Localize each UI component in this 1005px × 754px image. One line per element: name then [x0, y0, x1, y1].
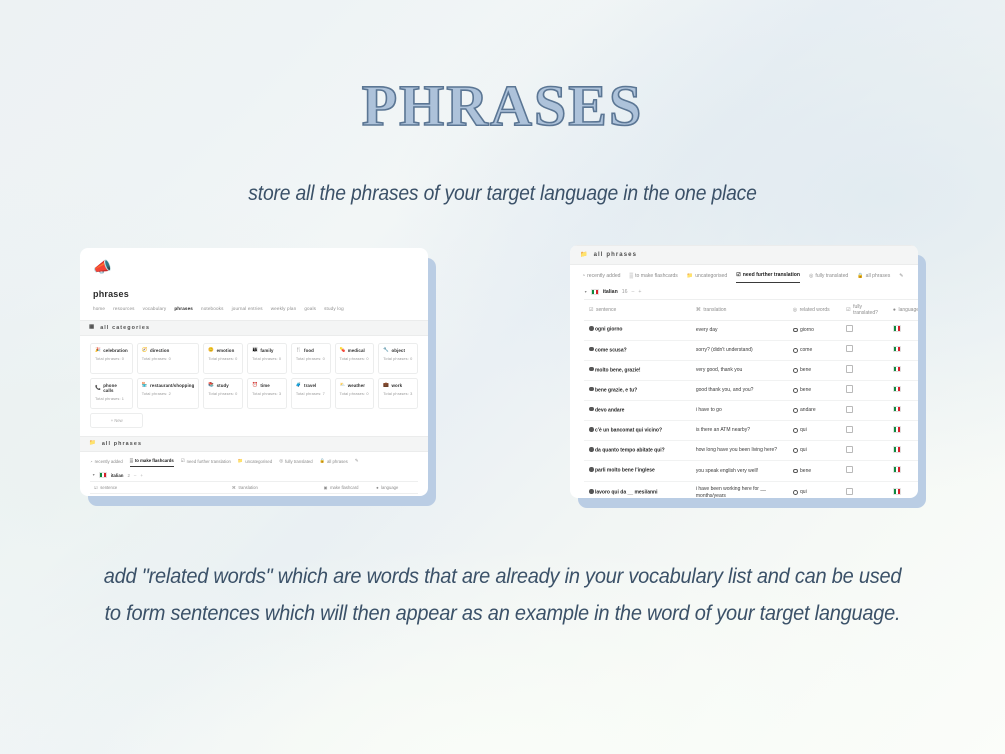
category-emoji-icon: 🍴 — [296, 348, 302, 353]
column-label: make flashcard — [330, 485, 358, 490]
cell-language: italian — [372, 494, 418, 497]
italy-flag-icon — [591, 289, 598, 295]
page-dot-icon — [589, 467, 594, 472]
sentence-text: da quanto tempo abitate qui? — [595, 448, 665, 454]
cell-fully-translated[interactable] — [841, 340, 888, 360]
cell-sentence: lavoro qui da __ mesi/anni — [584, 481, 691, 498]
nav-item-journal-entries[interactable]: journal entries — [232, 306, 263, 311]
cell-translation: every day — [228, 494, 320, 497]
category-count: Total phrases: 0 — [95, 356, 128, 361]
tab-label: all phrases — [327, 459, 348, 464]
checkbox[interactable] — [846, 345, 853, 352]
table-row[interactable]: molto bene, grazie!very good, thank youb… — [584, 360, 918, 380]
table-row[interactable]: come scusa?sorry? (didn't understand)com… — [584, 340, 918, 360]
tab-to-make-flashcards[interactable]: ▒to make flashcards — [630, 273, 678, 283]
nav-item-weekly-plan[interactable]: weekly plan — [271, 306, 297, 311]
nav-item-phrases[interactable]: phrases — [174, 306, 193, 311]
sentence-text: come scusa? — [595, 347, 627, 353]
bottom-caption: add "related words" which are words that… — [91, 558, 914, 632]
left-screenshot-card: 📣 phrases homeresourcesvocabularyphrases… — [80, 248, 428, 496]
category-name: restaurant/shopping — [150, 383, 194, 388]
page-dot-icon — [589, 427, 594, 432]
tab-label: recently added — [95, 459, 123, 464]
related-word-icon — [793, 469, 798, 474]
group-header-right[interactable]: ▼ italian 16 – + — [570, 283, 918, 299]
tab-label: fully translated — [285, 459, 313, 464]
caption-line-1: add "related words" which are words that… — [91, 558, 914, 595]
cell-sentence: come scusa? — [584, 340, 691, 360]
left-card-header: 📣 phrases homeresourcesvocabularyphrases… — [80, 248, 428, 311]
related-word-icon — [793, 408, 798, 413]
page-dot-icon — [589, 407, 594, 412]
category-name: food — [304, 348, 314, 353]
category-emoji-icon: 📚 — [208, 383, 214, 388]
chevron-down-icon: ▼ — [92, 473, 95, 477]
italy-flag-icon — [893, 325, 901, 332]
nav-item-home[interactable]: home — [93, 306, 105, 311]
category-emoji-icon: 📞 — [95, 386, 101, 391]
tab-all-phrases[interactable]: 🔒all phrases — [857, 273, 890, 283]
checkbox[interactable] — [846, 385, 853, 392]
folder-icon: 📁 — [580, 252, 589, 258]
group-count: 16 — [622, 289, 628, 295]
grid-icon: ▦ — [89, 325, 95, 330]
related-word-icon — [793, 490, 798, 495]
checkbox[interactable] — [846, 426, 853, 433]
category-card[interactable]: 🔧objectTotal phrases: 0 — [378, 343, 418, 374]
cell-sentence: parli molto bene l'inglese — [584, 461, 691, 481]
new-category-label: New — [114, 418, 122, 423]
tab-label: all phrases — [866, 273, 891, 279]
sentence-text: ogni giorno — [595, 327, 623, 333]
cell-sentence: ogni giorno — [584, 320, 691, 340]
tab-label: uncategorised — [245, 459, 272, 464]
sentence-text: c'è un bancomat qui vicino? — [595, 428, 662, 434]
category-emoji-icon: ⏰ — [252, 383, 258, 388]
category-card[interactable]: 🎉celebrationTotal phrases: 0 — [90, 343, 133, 374]
checkbox[interactable] — [846, 406, 853, 413]
target-icon: ◎ — [279, 458, 283, 464]
cell-fully-translated[interactable] — [841, 401, 888, 421]
related-text: andare — [800, 407, 816, 414]
cell-translation: sorry? (didn't understand) — [691, 340, 788, 360]
page-dot-icon — [589, 367, 594, 372]
italy-flag-icon — [893, 446, 901, 453]
cell-translation: how long have you been living here? — [691, 441, 788, 461]
folder-icon: 📁 — [687, 273, 693, 279]
cell-translation: i have been working here for __ months/y… — [691, 481, 788, 498]
tab-fully-translated[interactable]: ◎fully translated — [809, 273, 848, 283]
phrases-table-left: ☑sentence⌘translation▣make flashcard●lan… — [90, 481, 418, 496]
clock-icon: ◔ — [90, 459, 93, 464]
folder-icon: 📁 — [238, 458, 243, 464]
tab-edit[interactable]: ✎ — [899, 273, 905, 283]
italy-flag-icon — [99, 472, 106, 478]
related-text: bene — [800, 387, 811, 394]
related-text: come — [800, 347, 812, 354]
related-text: qui — [800, 447, 807, 454]
column-icon: ☑ — [94, 485, 98, 490]
italy-flag-icon — [893, 426, 901, 433]
category-emoji-icon: 👪 — [252, 348, 258, 353]
page-dot-icon — [589, 489, 594, 494]
cell-related-words[interactable]: come — [788, 340, 841, 360]
column-label: sentence — [596, 307, 616, 313]
table-row[interactable]: ogni giornoevery daygiorno — [584, 320, 918, 340]
category-card[interactable]: 🏪restaurant/shoppingTotal phrases: 2 — [137, 378, 200, 409]
category-card[interactable]: 🧭directionTotal phrases: 0 — [137, 343, 200, 374]
table-row[interactable]: lavoro qui da __ mesi/annii have been wo… — [584, 481, 918, 498]
category-name: medical — [348, 348, 365, 353]
cell-sentence: da quanto tempo abitate qui? — [584, 441, 691, 461]
tab-fully-translated[interactable]: ◎fully translated — [279, 458, 312, 467]
category-count: Total phrases: 3 — [252, 391, 282, 396]
lock-icon: 🔒 — [857, 273, 863, 279]
category-name: object — [392, 348, 406, 353]
nav-item-resources[interactable]: resources — [113, 306, 135, 311]
column-icon: ● — [893, 307, 896, 313]
column-icon: ☑ — [589, 307, 593, 313]
new-category-button[interactable]: + New — [90, 413, 143, 428]
italy-flag-icon — [893, 386, 901, 393]
sentence-text: bene grazie, e tu? — [595, 387, 637, 393]
category-card[interactable]: 💼workTotal phrases: 3 — [378, 378, 418, 409]
page-subtitle: store all the phrases of your target lan… — [40, 182, 965, 206]
nav-item-notebooks[interactable]: notebooks — [201, 306, 224, 311]
sentence-text: lavoro qui da __ mesi/anni — [595, 490, 658, 496]
tab-uncategorised[interactable]: 📁uncategorised — [687, 273, 727, 283]
checkbox[interactable] — [846, 488, 853, 495]
cell-translation: is there an ATM nearby? — [691, 421, 788, 441]
section-bar-all-phrases: 📁 all phrases — [570, 245, 918, 265]
column-header-language[interactable]: ●language — [888, 299, 918, 320]
page-dot-icon — [589, 326, 594, 331]
related-text: bene — [800, 468, 811, 475]
table-header-row: ☑sentence⌘translation▣make flashcard●lan… — [90, 482, 418, 494]
tab-label: need further translation — [743, 272, 800, 278]
section-title-all-phrases: all phrases — [594, 252, 637, 258]
column-label: sentence — [100, 485, 117, 490]
cell-related-words[interactable]: andare — [788, 401, 841, 421]
cell-language — [888, 441, 918, 461]
table-body: ogni giornoevery dayitalian i prezzi son… — [90, 494, 418, 497]
column-header-language[interactable]: ●language — [372, 482, 418, 494]
cell-related-words[interactable]: qui — [788, 481, 841, 498]
cards-icon: ▒ — [130, 458, 133, 463]
workspace-title: phrases — [93, 289, 415, 299]
column-label: language — [898, 307, 918, 313]
lock-icon: 🔒 — [320, 458, 325, 464]
category-count: Total phrases: 1 — [95, 396, 128, 401]
column-label: language — [381, 485, 398, 490]
column-label: translation — [238, 485, 257, 490]
category-count: Total phrases: 0 — [208, 391, 238, 396]
cell-language — [888, 421, 918, 441]
sentence-text: molto bene, grazie! — [595, 367, 641, 373]
cell-sentence: ogni giorno — [90, 494, 228, 497]
column-header-fully-translated-[interactable]: ☑fully translated? — [841, 299, 888, 320]
group-count: 2 — [127, 473, 129, 478]
checkbox[interactable] — [846, 365, 853, 372]
category-card[interactable]: 🍴foodTotal phrases: 0 — [291, 343, 331, 374]
section-title-phrases: all phrases — [102, 441, 142, 447]
tab-recently-added[interactable]: ◔recently added — [90, 459, 123, 467]
category-card[interactable]: 🧳travelTotal phrases: 7 — [291, 378, 331, 409]
column-header-sentence[interactable]: ☑sentence — [584, 299, 691, 320]
nav-item-study-log[interactable]: study log — [324, 306, 344, 311]
cell-sentence: devo andare — [584, 401, 691, 421]
cell-fully-translated[interactable] — [841, 380, 888, 400]
category-count: Total phrases: 0 — [142, 356, 195, 361]
tab-all-phrases[interactable]: 🔒all phrases — [320, 458, 348, 467]
related-word-icon — [793, 348, 798, 353]
categories-area: 🎉celebrationTotal phrases: 0🧭directionTo… — [80, 336, 428, 436]
cell-translation: very good, thank you — [691, 360, 788, 380]
column-label: fully translated? — [853, 304, 883, 316]
view-tabs-right: ◔recently added▒to make flashcards📁uncat… — [570, 265, 918, 283]
cell-translation: good thank you, and you? — [691, 380, 788, 400]
category-name: weather — [348, 383, 365, 388]
sentence-text: parli molto bene l'inglese — [595, 468, 655, 474]
page-dot-icon — [589, 387, 594, 392]
tab-label: to make flashcards — [135, 458, 174, 463]
right-card-body: 📁 all phrases ◔recently added▒to make fl… — [570, 245, 918, 498]
sentence-text: devo andare — [595, 407, 624, 413]
megaphone-icon: 📣 — [93, 260, 415, 275]
nav-item-vocabulary[interactable]: vocabulary — [143, 306, 167, 311]
cell-related-words[interactable]: bene — [788, 461, 841, 481]
cell-language — [888, 340, 918, 360]
column-header-related-words[interactable]: ◎related words — [788, 299, 841, 320]
cell-related-words[interactable]: bene — [788, 360, 841, 380]
italy-flag-icon — [893, 366, 901, 373]
nav-bar: homeresourcesvocabularyphrasesnotebooksj… — [93, 306, 415, 311]
italy-flag-icon — [893, 466, 901, 473]
tab-recently-added[interactable]: ◔recently added — [582, 273, 621, 283]
cell-related-words[interactable]: giorno — [788, 320, 841, 340]
category-name: family — [260, 348, 273, 353]
phrases-table-right: ☑sentence⌘translation◎related words☑full… — [584, 299, 918, 499]
tab-uncategorised[interactable]: 📁uncategorised — [238, 458, 272, 467]
pencil-icon: ✎ — [355, 458, 359, 464]
caption-line-2: to form sentences which will then appear… — [91, 595, 914, 632]
group-name: italian — [111, 473, 124, 478]
column-icon: ⌘ — [232, 485, 236, 490]
tab-need-further-translation[interactable]: ☑need further translation — [181, 458, 231, 467]
cell-related-words[interactable]: bene — [788, 380, 841, 400]
tab-label: recently added — [587, 273, 620, 279]
folder-icon: 📁 — [89, 441, 97, 446]
table-row[interactable]: devo andarei have to goandare — [584, 401, 918, 421]
right-screenshot-card: 📁 all phrases ◔recently added▒to make fl… — [570, 245, 918, 498]
cell-language — [888, 401, 918, 421]
category-count: Total phrases: 0 — [208, 356, 238, 361]
category-emoji-icon: 💼 — [383, 383, 389, 388]
category-name: phone calls — [103, 383, 128, 393]
related-word-icon — [793, 368, 798, 373]
table-body: ogni giornoevery daygiorno come scusa?so… — [584, 320, 918, 498]
category-count: Total phrases: 7 — [296, 391, 326, 396]
category-name: emotion — [217, 348, 235, 353]
column-icon: ◎ — [793, 307, 797, 313]
group-collapse-icon[interactable]: – — [632, 289, 635, 295]
tab-label: uncategorised — [695, 273, 727, 279]
italy-flag-icon — [893, 488, 901, 495]
related-text: giorno — [800, 327, 814, 334]
group-name: italian — [603, 289, 618, 295]
checkbox[interactable] — [846, 446, 853, 453]
cell-sentence: c'è un bancomat qui vicino? — [584, 421, 691, 441]
category-card[interactable]: ⏰timeTotal phrases: 3 — [247, 378, 287, 409]
table-row[interactable]: da quanto tempo abitate qui?how long hav… — [584, 441, 918, 461]
category-card[interactable]: ⛅weatherTotal phrases: 0 — [335, 378, 375, 409]
cell-language — [888, 320, 918, 340]
category-card[interactable]: 📚studyTotal phrases: 0 — [203, 378, 243, 409]
category-name: travel — [304, 383, 316, 388]
category-emoji-icon: 😊 — [208, 348, 214, 353]
cell-fully-translated[interactable] — [841, 481, 888, 498]
group-header-left[interactable]: ▼ italian 2 – + — [80, 467, 428, 481]
related-word-icon — [793, 448, 798, 453]
table-header-row: ☑sentence⌘translation◎related words☑full… — [584, 299, 918, 320]
related-word-icon — [793, 328, 798, 333]
section-bar-phrases: 📁 all phrases — [80, 436, 428, 452]
category-name: celebration — [103, 348, 128, 353]
cell-sentence: molto bene, grazie! — [584, 360, 691, 380]
related-word-icon — [793, 428, 798, 433]
section-title-categories: all categories — [100, 325, 150, 331]
cell-related-words[interactable]: qui — [788, 441, 841, 461]
cell-sentence: bene grazie, e tu? — [584, 380, 691, 400]
cards-icon: ▒ — [630, 273, 634, 279]
tab-edit[interactable]: ✎ — [355, 458, 361, 467]
category-count: Total phrases: 3 — [383, 391, 413, 396]
category-count: Total phrases: 0 — [340, 356, 370, 361]
column-label: related words — [800, 307, 830, 313]
tab-label: to make flashcards — [635, 273, 678, 279]
pencil-icon: ✎ — [899, 273, 903, 279]
column-header-translation[interactable]: ⌘translation — [228, 482, 320, 494]
column-label: translation — [703, 307, 726, 313]
column-header-translation[interactable]: ⌘translation — [691, 299, 788, 320]
cell-language — [888, 461, 918, 481]
category-name: time — [260, 383, 269, 388]
checkbox[interactable] — [846, 466, 853, 473]
cell-language — [888, 360, 918, 380]
check-square-icon: ☑ — [181, 458, 185, 464]
category-emoji-icon: ⛅ — [340, 383, 346, 388]
group-add-icon[interactable]: + — [140, 473, 143, 478]
chevron-down-icon: ▼ — [584, 290, 587, 294]
group-add-icon[interactable]: + — [638, 289, 641, 295]
clock-icon: ◔ — [582, 273, 585, 279]
category-emoji-icon: 🔧 — [383, 348, 389, 353]
category-count: Total phrases: 0 — [296, 356, 326, 361]
section-bar-categories: ▦ all categories — [80, 320, 428, 336]
category-card[interactable]: 💊medicalTotal phrases: 0 — [335, 343, 375, 374]
column-header-sentence[interactable]: ☑sentence — [90, 482, 228, 494]
related-word-icon — [793, 388, 798, 393]
left-card-body: 📣 phrases homeresourcesvocabularyphrases… — [80, 248, 428, 496]
cell-related-words[interactable]: qui — [788, 421, 841, 441]
category-emoji-icon: 🎉 — [95, 348, 101, 353]
cell-flashcard[interactable] — [320, 494, 372, 497]
cell-fully-translated[interactable] — [841, 421, 888, 441]
category-count: Total phrases: 0 — [383, 356, 413, 361]
related-text: qui — [800, 489, 807, 496]
italy-flag-icon — [893, 346, 901, 353]
cell-fully-translated[interactable] — [841, 360, 888, 380]
page-dot-icon — [589, 447, 594, 452]
table-row[interactable]: c'è un bancomat qui vicino?is there an A… — [584, 421, 918, 441]
cell-translation: i have to go — [691, 401, 788, 421]
table-row[interactable]: parli molto bene l'ingleseyou speak engl… — [584, 461, 918, 481]
group-collapse-icon[interactable]: – — [134, 473, 136, 478]
category-card[interactable]: 📞phone callsTotal phrases: 1 — [90, 378, 133, 409]
check-square-icon: ☑ — [736, 272, 741, 278]
tab-to-make-flashcards[interactable]: ▒to make flashcards — [130, 458, 174, 467]
category-name: direction — [150, 348, 169, 353]
tab-label: fully translated — [815, 273, 848, 279]
cell-translation: you speak english very well! — [691, 461, 788, 481]
italy-flag-icon — [893, 406, 901, 413]
column-icon: ● — [376, 485, 379, 490]
column-icon: ☑ — [846, 307, 850, 313]
related-text: bene — [800, 367, 811, 374]
category-emoji-icon: 🧭 — [142, 348, 148, 353]
cell-language — [888, 481, 918, 498]
column-header-make-flashcard[interactable]: ▣make flashcard — [320, 482, 372, 494]
target-icon: ◎ — [809, 273, 813, 279]
cell-fully-translated[interactable] — [841, 441, 888, 461]
category-count: Total phrases: 0 — [252, 356, 282, 361]
related-text: qui — [800, 427, 807, 434]
category-name: work — [392, 383, 403, 388]
view-tabs-left: ◔recently added▒to make flashcards☑need … — [80, 452, 428, 467]
page-title: PHRASES — [0, 72, 1005, 139]
cell-fully-translated[interactable] — [841, 320, 888, 340]
categories-grid: 🎉celebrationTotal phrases: 0🧭directionTo… — [90, 343, 418, 409]
category-name: study — [217, 383, 229, 388]
column-icon: ⌘ — [696, 307, 701, 313]
cell-language — [888, 380, 918, 400]
tab-label: need further translation — [187, 459, 231, 464]
category-count: Total phrases: 0 — [340, 391, 370, 396]
category-emoji-icon: 🧳 — [296, 383, 302, 388]
cell-translation: every day — [691, 320, 788, 340]
category-emoji-icon: 💊 — [340, 348, 346, 353]
page-dot-icon — [589, 347, 594, 352]
category-card[interactable]: 👪familyTotal phrases: 0 — [247, 343, 287, 374]
tab-need-further-translation[interactable]: ☑need further translation — [736, 272, 800, 283]
category-emoji-icon: 🏪 — [142, 383, 148, 388]
table-row[interactable]: ogni giornoevery dayitalian — [90, 494, 418, 497]
cell-fully-translated[interactable] — [841, 461, 888, 481]
table-row[interactable]: bene grazie, e tu?good thank you, and yo… — [584, 380, 918, 400]
nav-item-goals[interactable]: goals — [304, 306, 316, 311]
checkbox[interactable] — [846, 325, 853, 332]
column-icon: ▣ — [324, 485, 328, 490]
category-card[interactable]: 😊emotionTotal phrases: 0 — [203, 343, 243, 374]
category-count: Total phrases: 2 — [142, 391, 195, 396]
